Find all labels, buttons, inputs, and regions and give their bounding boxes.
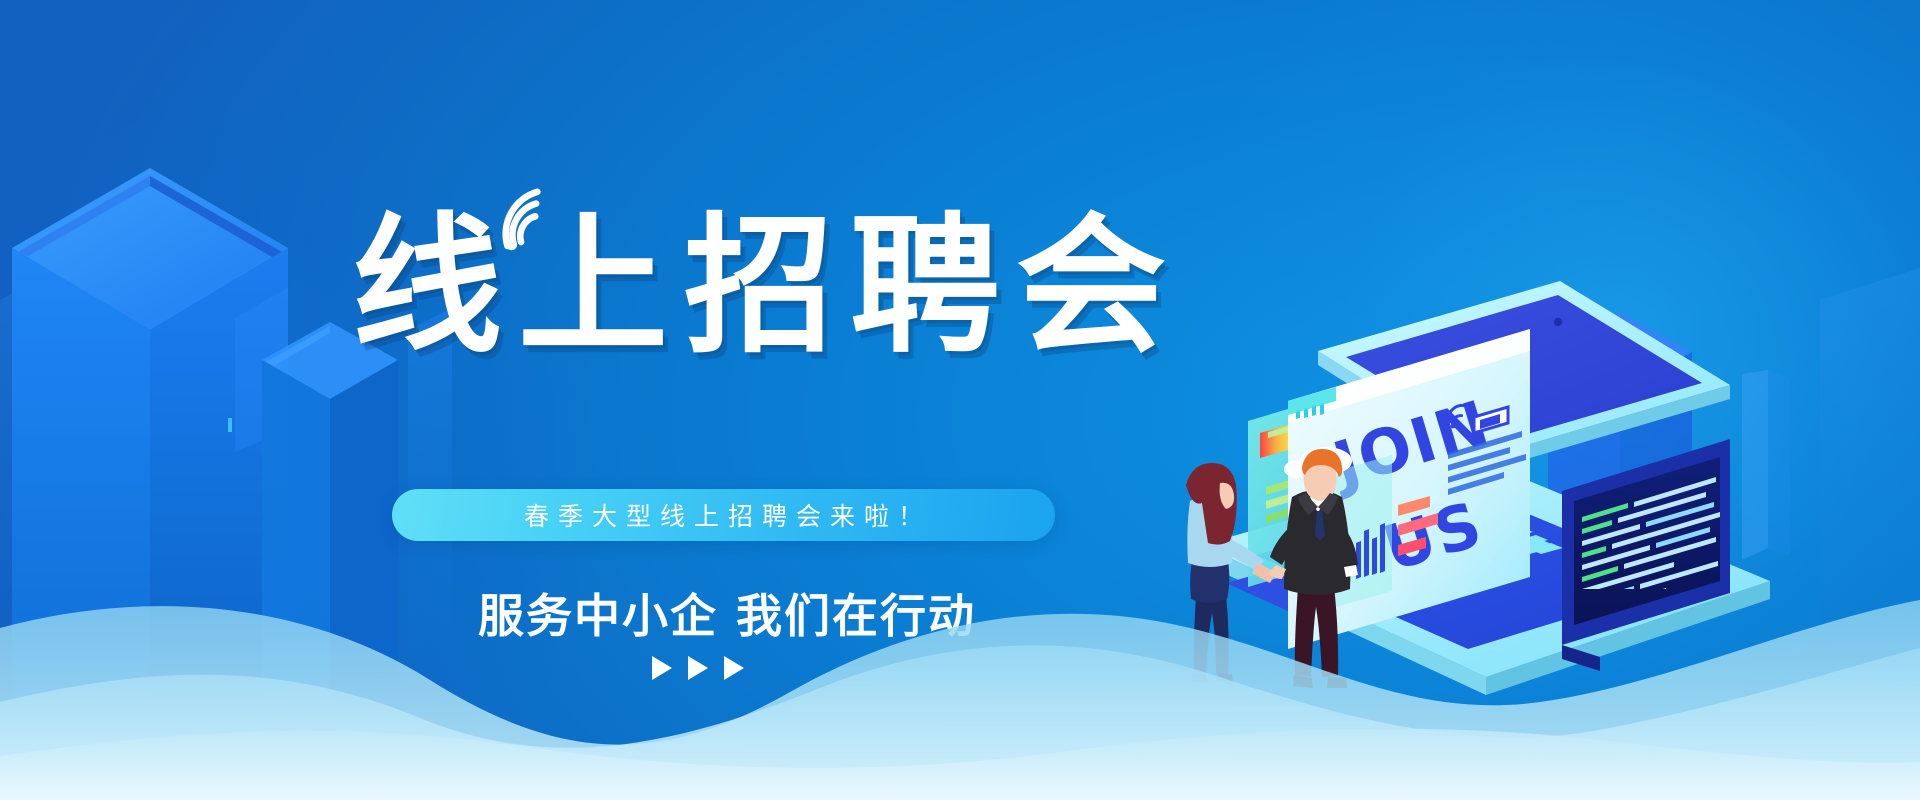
subtitle-pill: 春季大型线上招聘会来啦！	[392, 489, 1055, 541]
wave-decoration	[0, 570, 1920, 800]
online-job-fair-banner: 线上招聘会 春季大型线上招聘会来啦！ 服务中小企 我们在行动	[0, 0, 1920, 800]
subtitle-text: 春季大型线上招聘会来啦！	[515, 497, 932, 533]
